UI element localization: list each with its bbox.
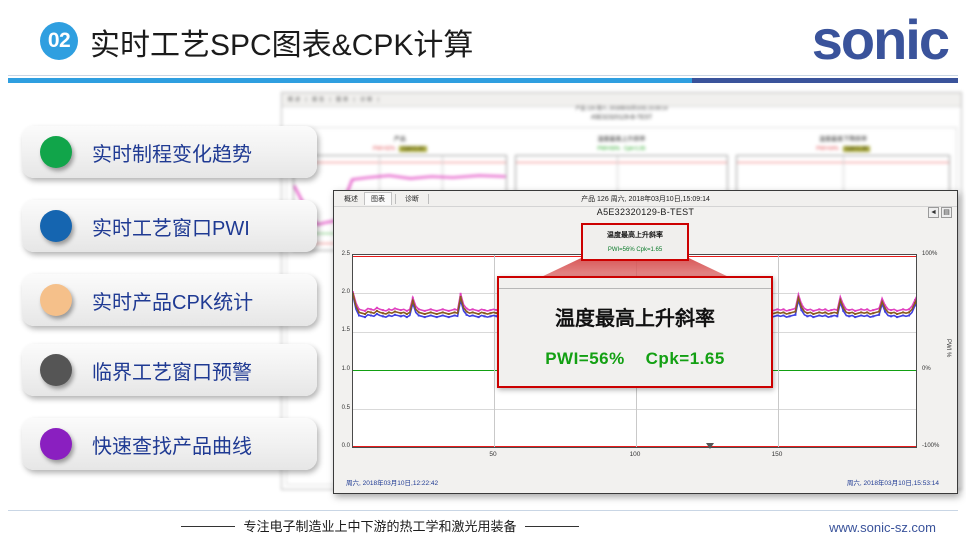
footer-url: www.sonic-sz.com xyxy=(829,520,936,535)
callout-big-pwi: PWI=56% xyxy=(545,349,625,368)
mini-cpk-value: Cpk=1.65 xyxy=(624,146,646,152)
series-marker xyxy=(789,312,791,314)
series-marker xyxy=(442,311,444,313)
series-marker xyxy=(442,308,444,310)
series-marker xyxy=(460,293,462,295)
series-marker xyxy=(454,315,456,317)
cursor-marker-icon[interactable] xyxy=(706,443,714,449)
series-marker xyxy=(382,309,384,311)
series-marker xyxy=(406,313,408,315)
layout-toggle-button[interactable]: ▤ xyxy=(941,207,952,218)
series-marker xyxy=(418,308,420,310)
series-marker xyxy=(789,315,791,317)
series-marker xyxy=(902,311,904,313)
series-marker xyxy=(884,308,886,310)
callout-small-title: 温度最高上升斜率 xyxy=(583,230,687,240)
callout-small-stats: PWI=56% Cpk=1.65 xyxy=(583,247,687,253)
series-marker xyxy=(358,311,360,313)
series-marker xyxy=(466,314,468,316)
series-marker xyxy=(370,308,372,310)
series-marker xyxy=(854,316,856,318)
series-marker xyxy=(448,313,450,315)
series-marker xyxy=(783,308,785,310)
series-marker xyxy=(890,315,892,317)
chart-product-info: 产品 126 周六, 2018年03月10日,15:09:14 xyxy=(334,194,957,204)
chart-title: A5E32320129-B-TEST xyxy=(334,207,957,217)
circle-bullet-icon xyxy=(40,428,72,460)
series-marker xyxy=(418,315,420,317)
series-marker xyxy=(430,315,432,317)
series-marker xyxy=(812,316,814,318)
sidebar-item-warning[interactable]: 临界工艺窗口预警 xyxy=(22,344,317,396)
series-marker xyxy=(448,316,450,318)
series-marker xyxy=(866,315,868,317)
circle-bullet-icon xyxy=(40,284,72,316)
series-marker xyxy=(424,310,426,312)
footer-dash-right xyxy=(525,526,579,527)
x-tick-label: 100 xyxy=(630,451,641,458)
series-marker xyxy=(472,308,474,310)
series-marker xyxy=(376,310,378,312)
series-marker xyxy=(388,308,390,310)
y-tick-label: 0.0 xyxy=(334,443,352,449)
y2-tick-label: 0% xyxy=(919,366,957,372)
series-marker xyxy=(830,315,832,317)
series-marker xyxy=(794,314,796,316)
chart-corner-controls: ◄ ▤ xyxy=(928,207,952,218)
series-marker xyxy=(860,311,862,313)
series-marker xyxy=(902,308,904,310)
series-marker xyxy=(848,312,850,314)
y-tick-label: 0.5 xyxy=(334,405,352,411)
footer-dash-left xyxy=(181,526,235,527)
series-marker xyxy=(806,315,808,317)
series-marker xyxy=(394,308,396,310)
series-marker xyxy=(878,311,880,313)
mini-cpk-value: Cpk=1.38 xyxy=(843,146,871,152)
callout-small[interactable]: 温度最高上升斜率 PWI=56% Cpk=1.65 xyxy=(581,223,689,261)
series-marker xyxy=(812,310,814,312)
sidebar-item-label: 临界工艺窗口预警 xyxy=(92,356,252,385)
series-marker xyxy=(466,308,468,310)
y-tick-label: 2.5 xyxy=(334,251,352,257)
series-marker xyxy=(478,313,480,315)
series-marker xyxy=(866,311,868,313)
series-marker xyxy=(783,315,785,317)
series-marker xyxy=(484,315,486,317)
series-marker xyxy=(824,315,826,317)
series-marker xyxy=(454,308,456,310)
series-marker xyxy=(436,316,438,318)
mini-pwi-value: PWI=64% xyxy=(816,146,838,152)
mini-panel-title: 温度最高下降斜率 xyxy=(819,134,867,143)
series-marker xyxy=(908,308,910,310)
series-marker xyxy=(836,315,838,317)
series-marker xyxy=(424,316,426,318)
sidebar-item-label: 快速查找产品曲线 xyxy=(92,430,252,459)
footer-tagline: 专注电子制造业上中下游的热工学和激光用装备 xyxy=(0,516,760,535)
x-tick-label: 150 xyxy=(772,451,783,458)
series-marker xyxy=(884,311,886,313)
series-marker xyxy=(878,314,880,316)
series-marker xyxy=(824,311,826,313)
series-marker xyxy=(442,315,444,317)
slide-root: 02 实时工艺SPC图表&CPK计算 sonic 概述 | 报告 | 图表 | … xyxy=(0,0,966,547)
mini-cpk-value: Cpk=1.42 xyxy=(399,146,427,152)
series-marker xyxy=(400,315,402,317)
series-marker xyxy=(394,314,396,316)
series-marker xyxy=(400,312,402,314)
series-marker xyxy=(872,315,874,317)
series-marker xyxy=(418,311,420,313)
series-marker xyxy=(388,315,390,317)
series-marker xyxy=(872,312,874,314)
series-marker xyxy=(382,315,384,317)
series-marker xyxy=(854,313,856,315)
sidebar-item-label: 实时产品CPK统计 xyxy=(92,286,253,315)
series-marker xyxy=(800,306,802,308)
series-marker xyxy=(860,308,862,310)
background-product-info: 产品 126 周六, 2018年03月10日,15:09:14 xyxy=(282,105,961,112)
series-marker xyxy=(436,313,438,315)
series-marker xyxy=(472,315,474,317)
series-marker xyxy=(860,315,862,317)
series-marker xyxy=(783,311,785,313)
series-marker xyxy=(818,308,820,310)
series-marker xyxy=(789,309,791,311)
series-marker xyxy=(902,315,904,317)
circle-bullet-icon xyxy=(40,354,72,386)
series-marker xyxy=(364,316,366,318)
series-marker xyxy=(818,311,820,313)
series-marker xyxy=(376,307,378,309)
series-marker xyxy=(794,311,796,313)
series-marker xyxy=(430,308,432,310)
series-marker xyxy=(908,315,910,317)
y2-tick-label: -100% xyxy=(919,443,957,449)
series-marker xyxy=(490,312,492,314)
background-window-title: A5E32320129-B-TEST xyxy=(282,115,961,121)
collapse-left-button[interactable]: ◄ xyxy=(928,207,939,218)
series-marker xyxy=(818,315,820,317)
series-marker xyxy=(454,311,456,313)
callout-magnified[interactable]: 温度最高上升斜率 PWI=56% Cpk=1.65 xyxy=(497,276,773,388)
mini-panel-stats: PWI=92% Cpk=1.42 xyxy=(373,146,427,152)
sidebar-item-label: 实时制程变化趋势 xyxy=(92,138,252,167)
series-marker xyxy=(866,308,868,310)
series-marker xyxy=(914,302,916,304)
mini-pwi-value: PWI=56% xyxy=(598,146,620,152)
series-marker xyxy=(848,315,850,317)
footer-tagline-text: 专注电子制造业上中下游的热工学和激光用装备 xyxy=(243,519,516,534)
series-marker xyxy=(890,312,892,314)
header-hairline xyxy=(8,75,958,76)
series-marker xyxy=(472,311,474,313)
x-tick-label: 50 xyxy=(489,451,496,458)
series-marker xyxy=(777,315,779,317)
series-marker xyxy=(412,300,414,302)
sidebar-item-label: 实时工艺窗口PWI xyxy=(92,212,250,241)
series-marker xyxy=(896,310,898,312)
series-marker xyxy=(872,309,874,311)
series-marker xyxy=(836,312,838,314)
y2-axis-title: PWI % xyxy=(945,339,951,357)
series-marker xyxy=(353,293,354,295)
series-marker xyxy=(388,311,390,313)
series-marker xyxy=(478,316,480,318)
series-marker xyxy=(370,311,372,313)
series-marker xyxy=(364,310,366,312)
series-marker xyxy=(842,307,844,309)
y-tick-label: 1.0 xyxy=(334,366,352,372)
series-marker xyxy=(490,309,492,311)
mini-panel-stats: PWI=64% Cpk=1.38 xyxy=(816,146,870,152)
series-marker xyxy=(364,313,366,315)
circle-bullet-icon xyxy=(40,210,72,242)
series-marker xyxy=(430,311,432,313)
series-marker xyxy=(806,309,808,311)
y2-tick-label: 100% xyxy=(919,251,957,257)
series-marker xyxy=(466,311,468,313)
series-marker xyxy=(812,313,814,315)
sidebar-item-trend[interactable]: 实时制程变化趋势 xyxy=(22,126,317,178)
series-marker xyxy=(824,308,826,310)
series-marker xyxy=(370,315,372,317)
callout-big-stats: PWI=56% Cpk=1.65 xyxy=(545,349,725,369)
series-marker xyxy=(394,311,396,313)
series-marker xyxy=(358,315,360,317)
series-marker xyxy=(830,312,832,314)
mini-panel-stats: PWI=56% Cpk=1.65 xyxy=(598,146,646,152)
sidebar-item-pwi[interactable]: 实时工艺窗口PWI xyxy=(22,200,317,252)
series-marker xyxy=(908,311,910,313)
series-marker xyxy=(806,312,808,314)
footer-divider xyxy=(8,510,958,511)
series-marker xyxy=(382,312,384,314)
page-title: 实时工艺SPC图表&CPK计算 xyxy=(90,20,473,64)
series-marker xyxy=(448,310,450,312)
series-marker xyxy=(484,309,486,311)
series-marker xyxy=(896,313,898,315)
series-marker xyxy=(406,310,408,312)
series-marker xyxy=(376,313,378,315)
mini-panel-title: 产品 xyxy=(394,134,406,143)
series-marker xyxy=(460,296,462,298)
callout-big-title: 温度最高上升斜率 xyxy=(555,302,715,331)
series-marker xyxy=(896,316,898,318)
series-marker xyxy=(854,310,856,312)
timestamp-end: 周六, 2018年03月10日,15:53:14 xyxy=(847,477,939,487)
callout-big-cpk: Cpk=1.65 xyxy=(646,349,725,368)
series-marker xyxy=(436,310,438,312)
header-accent-rule xyxy=(8,78,958,83)
series-marker xyxy=(484,312,486,314)
series-marker xyxy=(848,309,850,311)
series-marker xyxy=(777,308,779,310)
sidebar-item-search-curve[interactable]: 快速查找产品曲线 xyxy=(22,418,317,470)
series-marker xyxy=(478,310,480,312)
series-marker xyxy=(400,309,402,311)
circle-bullet-icon xyxy=(40,136,72,168)
sidebar-item-cpk[interactable]: 实时产品CPK统计 xyxy=(22,274,317,326)
series-marker xyxy=(406,316,408,318)
series-marker xyxy=(424,313,426,315)
mini-pwi-value: PWI=92% xyxy=(373,146,395,152)
series-marker xyxy=(830,309,832,311)
y-tick-label: 1.5 xyxy=(334,327,352,333)
series-marker xyxy=(777,311,779,313)
section-number-badge: 02 xyxy=(40,22,78,60)
mini-panel-title: 温度最高上升斜率 xyxy=(598,134,646,143)
series-marker xyxy=(490,315,492,317)
sonic-logo: sonic xyxy=(812,12,948,68)
series-marker xyxy=(890,309,892,311)
y-tick-label: 2.0 xyxy=(334,289,352,295)
timestamp-start: 周六, 2018年03月10日,12:22:42 xyxy=(346,477,438,487)
